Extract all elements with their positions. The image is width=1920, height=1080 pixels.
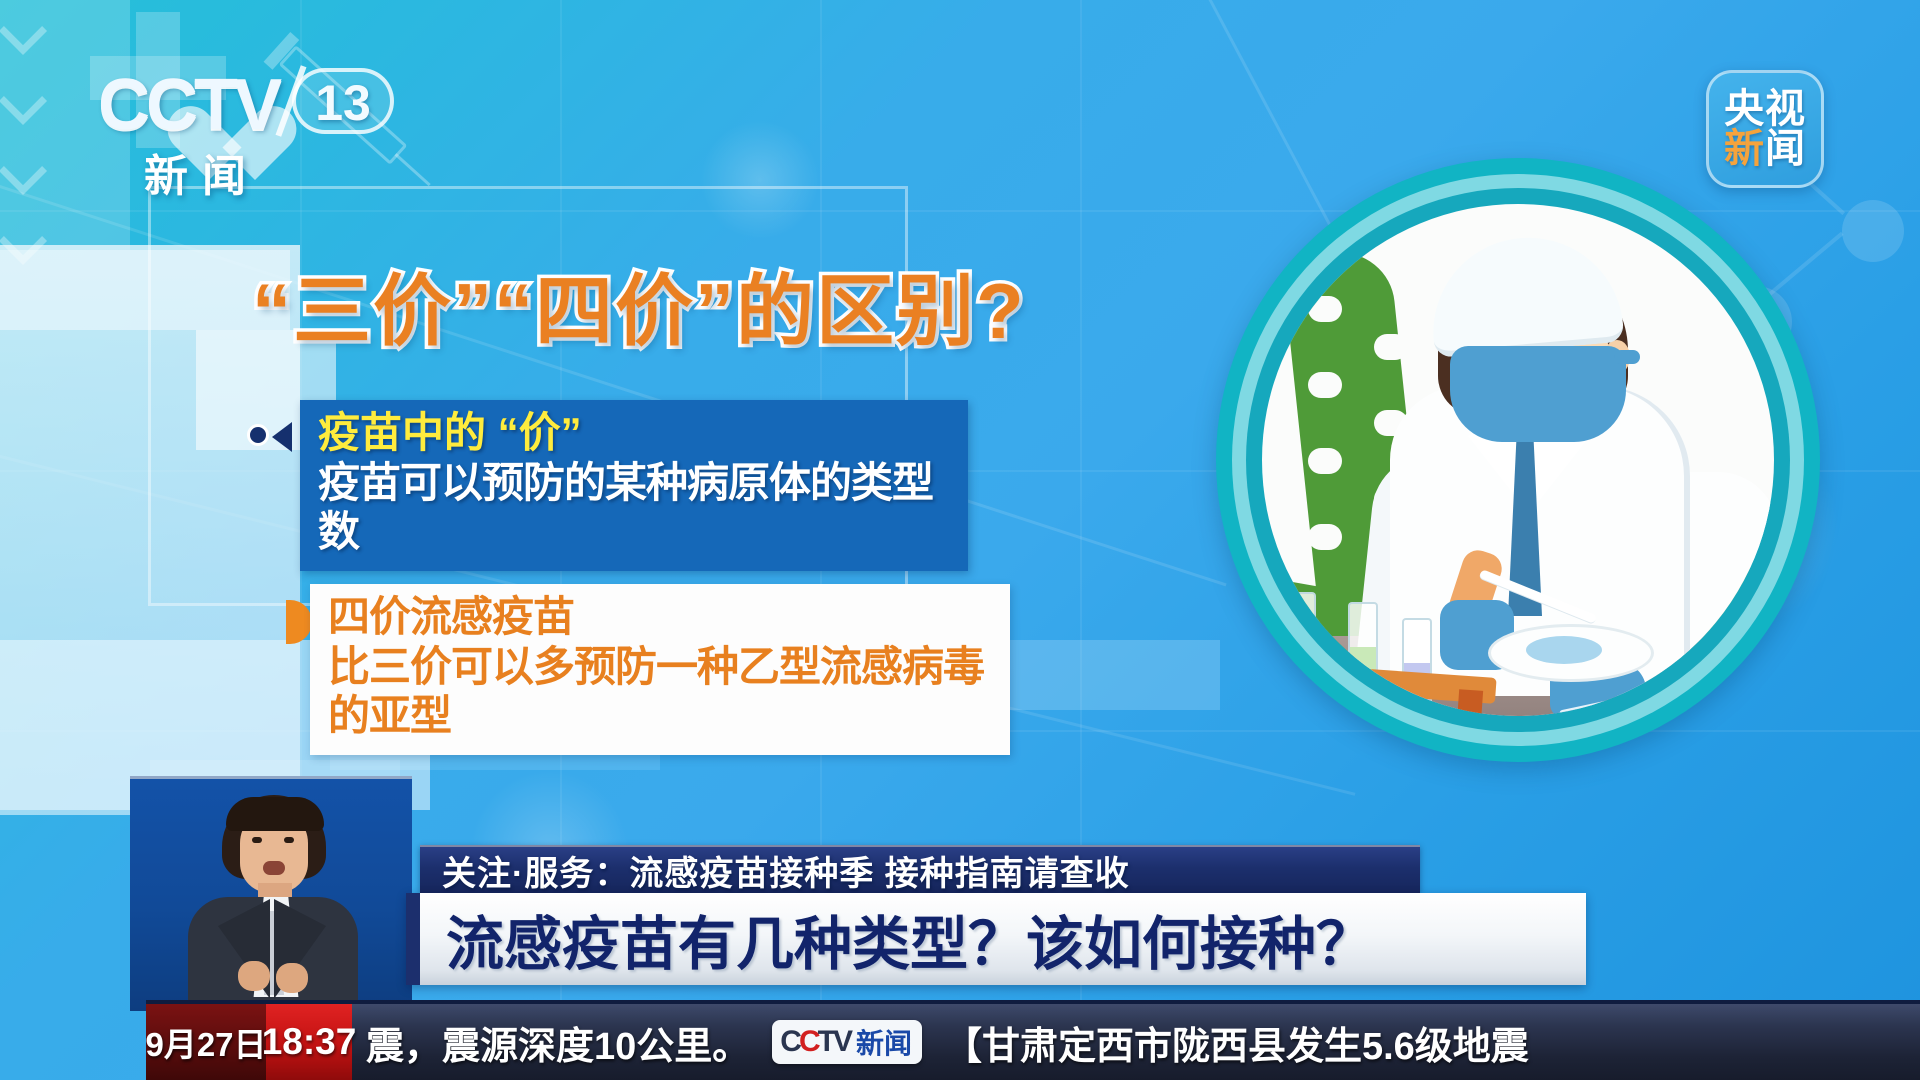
channel-number-pill: 13 [292,68,394,134]
ticker-scroll-area: 震，震源深度10公里。 CCTV 新闻 【甘肃定西市陇西县发生5.6级地震 [352,1004,1920,1080]
news-anchor-video [130,776,412,1011]
info-block-1-body: 疫苗可以预防的某种病原体的类型数 [318,458,952,557]
ticker-cctv-news-badge: CCTV 新闻 [772,1020,922,1064]
triangle-right-marker-icon [286,600,312,644]
test-tube [1286,592,1316,710]
chevron-down-icon [0,147,47,195]
chevron-down-icon [0,77,47,125]
ticker-badge-cctv: CCTV [780,1025,850,1059]
lab-scientist-illustration [1216,158,1820,762]
ticker-text-before: 震，震源深度10公里。 [366,1015,750,1070]
brand-badge: 央视 新 闻 [1706,70,1824,188]
brand-badge-news-char2: 闻 [1765,129,1806,169]
info-block-2-body: 比三价可以多预防一种乙型流感病毒的亚型 [328,642,994,741]
info-block-1: 疫苗中的 “价” 疫苗可以预防的某种病原体的类型数 [300,400,968,571]
ticker-text-after: 【甘肃定西市陇西县发生5.6级地震 [944,1015,1529,1070]
surgical-mask-icon [1450,346,1626,442]
lower-third-kicker-text: 关注·服务：流感疫苗接种季 接种指南请查收 [420,846,1130,895]
info-block-2: 四价流感疫苗 比三价可以多预防一种乙型流感病毒的亚型 [310,584,1010,755]
bullet-dot-icon [247,424,269,446]
lower-third-kicker: 关注·服务：流感疫苗接种季 接种指南请查收 [420,845,1420,893]
test-tube [1348,602,1378,716]
info-block-1-heading: 疫苗中的 “价” [318,408,952,458]
ticker-date: 9月27日 [146,1004,266,1080]
chevron-down-icon [0,217,47,265]
channel-logo-subtitle: 新闻 [144,140,260,204]
channel-number: 13 [296,74,390,132]
channel-logo: CCTV 13 新闻 [92,56,392,206]
ticker-badge-news: 新闻 [856,1022,912,1062]
info-block-2-heading: 四价流感疫苗 [328,592,994,642]
news-ticker: 9月27日 18:37 震，震源深度10公里。 CCTV 新闻 【甘肃定西市陇西… [146,1000,1920,1080]
test-tube [1402,618,1432,716]
surgical-cap-icon [1425,230,1624,358]
page-title: “三价”“四价”的区别? [252,272,1026,350]
lower-third-headline: 流感疫苗有几种类型？该如何接种？ [406,893,1586,985]
ticker-time: 18:37 [266,1004,352,1080]
lower-third-headline-text: 流感疫苗有几种类型？该如何接种？ [420,897,1374,981]
broadcast-frame: CCTV 13 新闻 央视 新 闻 “三价”“四价”的区别? 疫苗中的 “价” … [0,0,1920,1080]
chevron-down-icon [0,7,47,55]
brand-badge-line2: 新 闻 [1724,129,1806,169]
brand-badge-news-char: 新 [1724,129,1765,169]
triangle-left-marker-icon [272,422,292,452]
channel-logo-text: CCTV [98,64,278,146]
brand-badge-line1: 央视 [1724,89,1806,129]
